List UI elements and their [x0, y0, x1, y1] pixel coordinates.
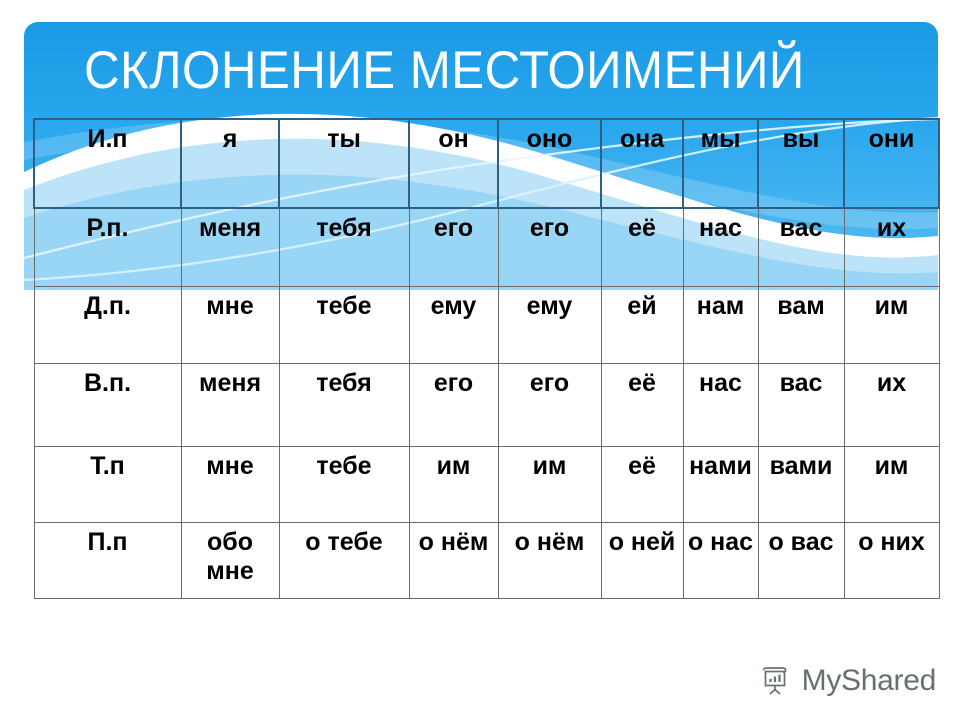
- table-cell: вас: [758, 208, 844, 287]
- table-cell: о вас: [758, 523, 844, 599]
- table-cell: о ней: [601, 523, 683, 599]
- row-case-label: Р.п.: [34, 208, 181, 287]
- table-cell: ему: [409, 287, 498, 364]
- table-cell: тебя: [279, 208, 409, 287]
- table-cell: о нас: [683, 523, 758, 599]
- table-header-pronoun-7: вы: [758, 119, 844, 208]
- table-cell: его: [409, 208, 498, 287]
- table-cell: о них: [844, 523, 939, 599]
- row-case-label: В.п.: [34, 364, 181, 447]
- table-cell: меня: [181, 208, 279, 287]
- watermark: MyShared: [759, 664, 936, 698]
- table-cell: мне: [181, 287, 279, 364]
- row-case-label: П.п: [34, 523, 181, 599]
- table-header-pronoun-8: они: [844, 119, 939, 208]
- watermark-label: MyShared: [802, 664, 936, 698]
- table-cell: тебе: [279, 287, 409, 364]
- table-header-pronoun-4: оно: [498, 119, 601, 208]
- row-case-label: Т.п: [34, 447, 181, 523]
- declension-table: И.п я ты он оно она мы вы они Р.п. меня …: [33, 118, 940, 599]
- table-cell: вас: [758, 364, 844, 447]
- table-header-pronoun-1: я: [181, 119, 279, 208]
- table-cell: о нём: [498, 523, 601, 599]
- table-cell: ему: [498, 287, 601, 364]
- page-title: СКЛОНЕНИЕ МЕСТОИМЕНИЙ: [84, 38, 865, 104]
- table-header-pronoun-5: она: [601, 119, 683, 208]
- table-header-case: И.п: [34, 119, 181, 208]
- table-cell: его: [498, 208, 601, 287]
- table-cell: о нём: [409, 523, 498, 599]
- table-cell: нас: [683, 364, 758, 447]
- presentation-chart-icon: [759, 664, 793, 698]
- table-cell: его: [498, 364, 601, 447]
- table-cell: о тебе: [279, 523, 409, 599]
- table-cell: нами: [683, 447, 758, 523]
- table-cell: тебя: [279, 364, 409, 447]
- table-cell: мне: [181, 447, 279, 523]
- table-cell: им: [498, 447, 601, 523]
- table-header-pronoun-3: он: [409, 119, 498, 208]
- table-row: П.п обо мне о тебе о нём о нём о ней о н…: [34, 523, 939, 599]
- table-cell: тебе: [279, 447, 409, 523]
- table-cell: нам: [683, 287, 758, 364]
- table-cell: ей: [601, 287, 683, 364]
- table-header-pronoun-2: ты: [279, 119, 409, 208]
- table-cell: их: [844, 208, 939, 287]
- table-cell: их: [844, 364, 939, 447]
- table-cell: обо мне: [181, 523, 279, 599]
- table-cell: её: [601, 208, 683, 287]
- table-row: Т.п мне тебе им им её нами вами им: [34, 447, 939, 523]
- table-header-pronoun-6: мы: [683, 119, 758, 208]
- table-cell: вам: [758, 287, 844, 364]
- table-cell: нас: [683, 208, 758, 287]
- table-row: Д.п. мне тебе ему ему ей нам вам им: [34, 287, 939, 364]
- table-header-row: И.п я ты он оно она мы вы они: [34, 119, 939, 208]
- table-cell: её: [601, 364, 683, 447]
- table-row: Р.п. меня тебя его его её нас вас их: [34, 208, 939, 287]
- table-cell: им: [409, 447, 498, 523]
- table-cell: его: [409, 364, 498, 447]
- row-case-label: Д.п.: [34, 287, 181, 364]
- table-cell: им: [844, 287, 939, 364]
- table-cell: её: [601, 447, 683, 523]
- table-cell: вами: [758, 447, 844, 523]
- table-cell: им: [844, 447, 939, 523]
- table-row: В.п. меня тебя его его её нас вас их: [34, 364, 939, 447]
- table-cell: меня: [181, 364, 279, 447]
